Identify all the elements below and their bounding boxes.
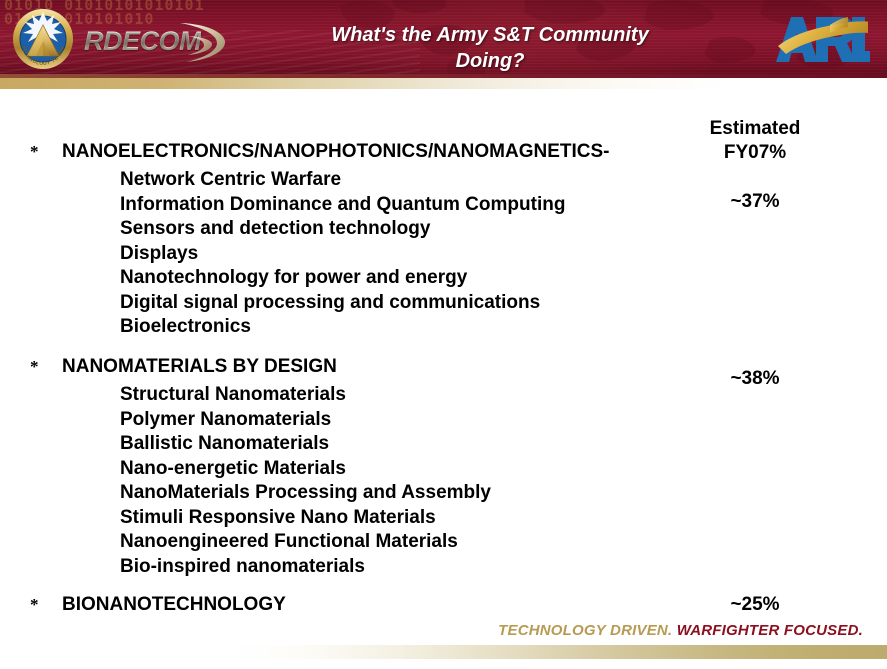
list-item: Sensors and detection technology (120, 217, 565, 242)
list-item: NanoMaterials Processing and Assembly (120, 481, 491, 506)
list-item: Information Dominance and Quantum Comput… (120, 193, 565, 218)
section-nanoelectronics: * NANOELECTRONICS/NANOPHOTONICS/NANOMAGN… (0, 141, 887, 167)
list-item: Stimuli Responsive Nano Materials (120, 506, 491, 531)
list-item: Nano-energetic Materials (120, 457, 491, 482)
list-item: Network Centric Warfare (120, 168, 565, 193)
header-gold-divider (0, 78, 887, 89)
slide-title: What's the Army S&T Community Doing? (300, 22, 680, 74)
section-percent-value: ~25% (665, 594, 845, 616)
section-title: NANOMATERIALS BY DESIGN (62, 356, 337, 378)
list-item: Displays (120, 242, 565, 267)
rdecom-swoosh-icon (84, 20, 234, 66)
estimate-header-line1: Estimated (665, 117, 845, 141)
list-item: Structural Nanomaterials (120, 383, 491, 408)
list-item: Nanotechnology for power and energy (120, 266, 565, 291)
slide-title-line1: What's the Army S&T Community (300, 22, 680, 48)
tagline-warfighter-focused: WARFIGHTER FOCUSED. (677, 622, 863, 639)
list-item: Bio-inspired nanomaterials (120, 555, 491, 580)
tagline-technology-driven: TECHNOLOGY DRIVEN. (498, 622, 672, 639)
slide-header-banner: 01010 01010101010101 01 0 1010101010 (0, 0, 887, 78)
rdecom-seal-icon: TECHNOLOGY TO WIN (12, 8, 74, 70)
section-title: BIONANOTECHNOLOGY (62, 594, 286, 616)
footer-gold-divider (0, 645, 887, 659)
bullet-star-icon: * (30, 358, 39, 376)
list-item: Ballistic Nanomaterials (120, 432, 491, 457)
list-item: Bioelectronics (120, 315, 565, 340)
section-percent-value: ~38% (665, 368, 845, 390)
section-subitem-list: Network Centric Warfare Information Domi… (120, 168, 565, 340)
slide-title-line2: Doing? (300, 48, 680, 74)
section-title: NANOELECTRONICS/NANOPHOTONICS/NANOMAGNET… (62, 141, 610, 163)
list-item: Nanoengineered Functional Materials (120, 530, 491, 555)
list-item: Digital signal processing and communicat… (120, 291, 565, 316)
section-subitem-list: Structural Nanomaterials Polymer Nanomat… (120, 383, 491, 579)
list-item: Polymer Nanomaterials (120, 408, 491, 433)
footer-tagline: TECHNOLOGY DRIVEN. WARFIGHTER FOCUSED. (0, 622, 887, 639)
section-nanomaterials-by-design: * NANOMATERIALS BY DESIGN Structural Nan… (0, 356, 887, 382)
arl-logo-icon (772, 12, 870, 67)
slide-body: Estimated FY07% * NANOELECTRONICS/NANOPH… (0, 89, 887, 629)
section-bionanotechnology: * BIONANOTECHNOLOGY ~25% (0, 594, 887, 620)
bullet-star-icon: * (30, 143, 39, 161)
section-percent-value: ~37% (665, 191, 845, 213)
rdecom-wordmark: RDECOM (84, 20, 234, 66)
bullet-star-icon: * (30, 596, 39, 614)
